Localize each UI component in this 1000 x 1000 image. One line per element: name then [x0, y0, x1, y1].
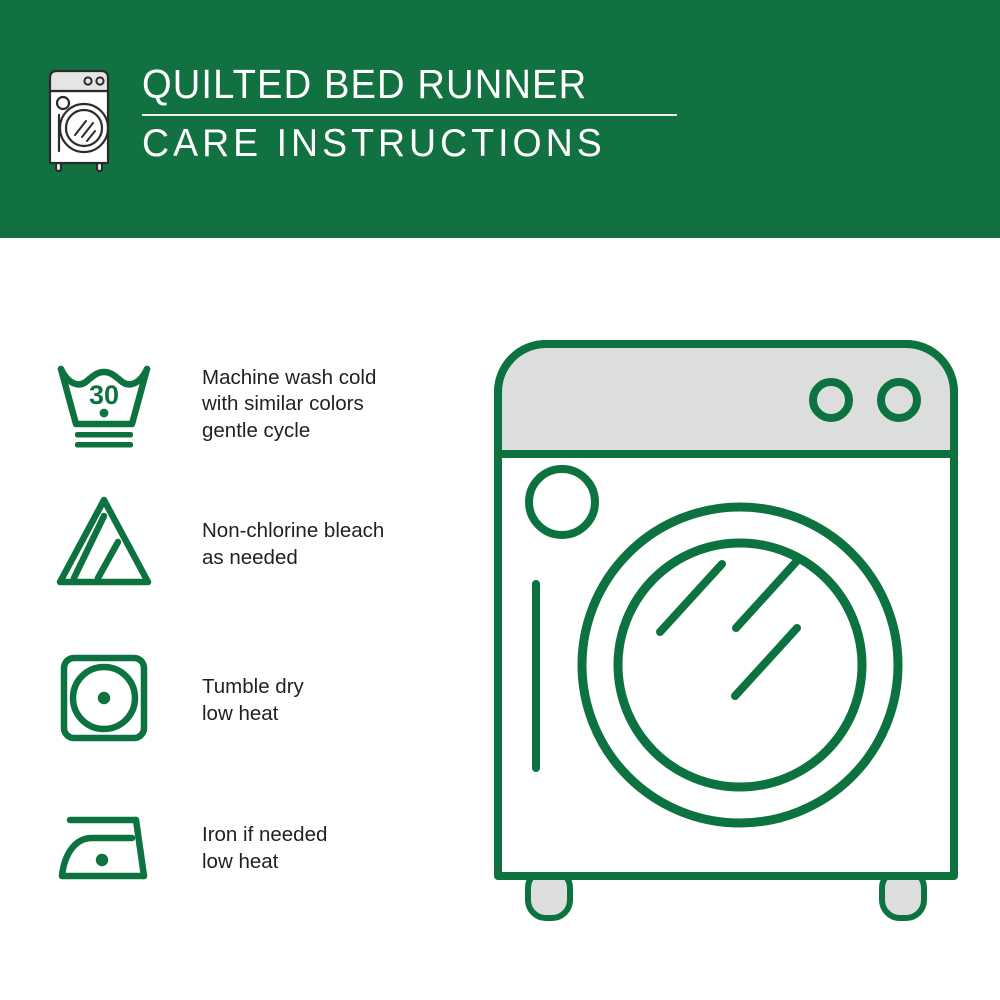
care-label-bleach: Non-chlorine bleach as needed: [202, 518, 384, 571]
washing-machine-icon: [44, 65, 120, 173]
bleach-triangle-nonchlorine-icon: [52, 490, 156, 599]
care-instruction-list: 30 Machine wash cold with similar colors…: [0, 238, 470, 1000]
iron-low-heat-icon: [52, 794, 156, 903]
front-load-washing-machine-illustration: [490, 336, 960, 928]
wash-tub-30-gentle-icon: 30: [52, 350, 156, 459]
care-row-tumble-dry: Tumble dry low heat: [52, 646, 304, 755]
care-row-iron: Iron if needed low heat: [52, 794, 327, 903]
page-title: QUILTED BED RUNNER: [142, 62, 640, 106]
care-label-wash: Machine wash cold with similar colors ge…: [202, 365, 376, 445]
care-row-bleach: Non-chlorine bleach as needed: [52, 490, 384, 599]
care-row-wash: 30 Machine wash cold with similar colors…: [52, 350, 376, 459]
care-label-tumble-dry: Tumble dry low heat: [202, 674, 304, 727]
title-divider: [142, 114, 677, 116]
header-titles: QUILTED BED RUNNER CARE INSTRUCTIONS: [142, 62, 677, 165]
page-subtitle: CARE INSTRUCTIONS: [142, 123, 656, 165]
header-banner: QUILTED BED RUNNER CARE INSTRUCTIONS: [0, 0, 1000, 238]
header-content: QUILTED BED RUNNER CARE INSTRUCTIONS: [44, 62, 677, 173]
wash-temperature-value: 30: [89, 380, 119, 410]
tumble-dry-low-icon: [52, 646, 156, 755]
care-label-iron: Iron if needed low heat: [202, 822, 327, 875]
washer-control-panel: [498, 344, 954, 454]
